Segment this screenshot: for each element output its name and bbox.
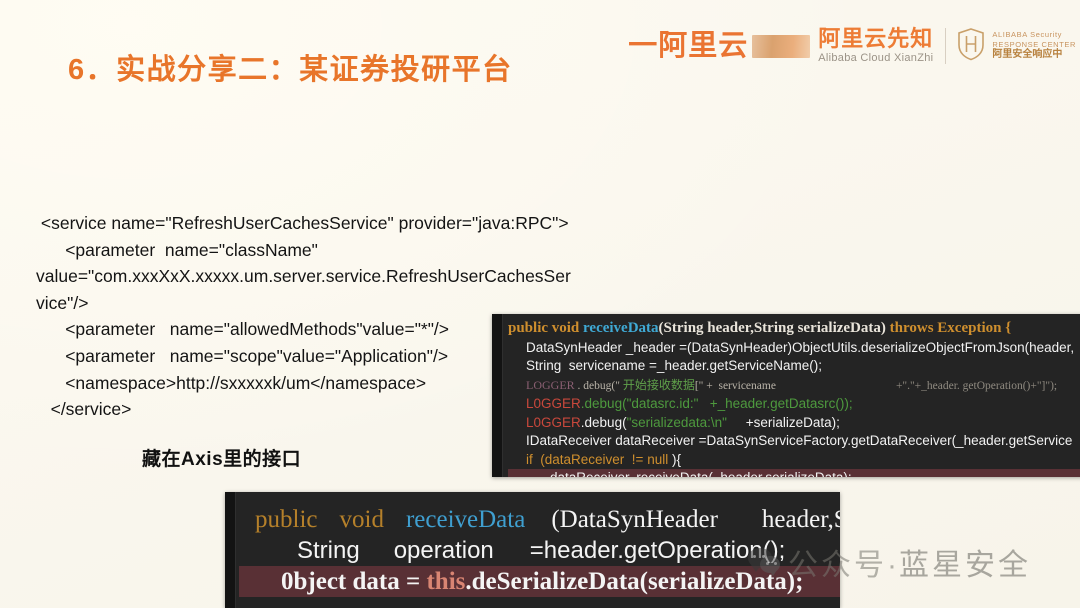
code-text: .deSerializeData(serializeData); — [465, 568, 803, 595]
brand-divider — [945, 28, 946, 64]
code-line: L0GGER.debug("datasrc.id:" +_header.getD… — [508, 395, 1080, 414]
code-text: +"."+_header. getOperation()+"]"); — [776, 380, 1057, 392]
code-text: +serializeData); — [727, 415, 840, 430]
code-line: public void receiveData(String header,St… — [508, 318, 1080, 338]
code-keyword-this: this — [426, 568, 465, 595]
asrc-line2: RESPONSE CENTER — [992, 40, 1076, 49]
code-brace: { — [1005, 320, 1011, 336]
code-if-keyword: if (dataReceiver != — [508, 452, 647, 467]
asrc-logo: ALIBABA Security RESPONSE CENTER 阿里安全响应中 — [956, 27, 1076, 66]
code-text: +_header.getDatasrc()); — [698, 396, 852, 411]
xianzhi-label-cn: 阿里云先知 — [818, 28, 933, 50]
code-string: "serializedata:\n" — [627, 415, 727, 430]
code-text: 0bject data = — [239, 568, 426, 595]
code-screenshot-bottom: publicvoidreceiveData(DataSynHeaderheade… — [225, 492, 840, 608]
watermark-name: 蓝星安全 — [899, 549, 1031, 582]
code-text: dataReceiver. receiveData(_header,serial… — [508, 470, 852, 477]
code-keyword: public void — [508, 320, 583, 336]
code-text: IDataReceiver dataReceiver =DataSynServi… — [508, 433, 1072, 448]
code-text: String — [239, 537, 360, 564]
code-param-names: header,String — [718, 506, 840, 533]
code-line: LOGGER . debug(" 开始接收数据[" + servicename+… — [508, 375, 1080, 395]
xianzhi-logo: 阿里云先知 Alibaba Cloud XianZhi — [818, 28, 933, 64]
code-screenshot-top: public void receiveData(String header,St… — [492, 314, 1080, 477]
code-text: .debug( — [581, 396, 627, 411]
code-line: DataSynHeader _header =(DataSynHeader)Ob… — [508, 338, 1080, 357]
code-string-cn: 开始接收数据 — [623, 378, 695, 392]
code-method-name: receiveData — [384, 506, 525, 533]
aliyun-wordmark: 一阿里云 — [628, 32, 748, 61]
code-text: =header.getOperation(); — [494, 537, 786, 564]
code-lines: public void receiveData(String header,St… — [492, 314, 1080, 477]
code-line: String servicename =_header.getServiceNa… — [508, 357, 1080, 376]
code-logger: L0GGER — [508, 396, 581, 411]
code-line-highlighted: 0bject data = this.deSerializeData(seria… — [239, 566, 840, 597]
code-text: operation — [360, 537, 494, 564]
code-line: L0GGER.debug("serializedata:\n" +seriali… — [508, 413, 1080, 432]
code-text: .debug( — [581, 415, 627, 430]
code-keyword-void: void — [318, 506, 384, 533]
code-signature: (String header,String serializeData) — [659, 320, 890, 336]
watermark-separator: · — [887, 549, 899, 582]
code-throws: throws Exception — [890, 320, 1006, 336]
code-line: publicvoidreceiveData(DataSynHeaderheade… — [239, 504, 840, 535]
code-logger: LOGGER — [508, 378, 575, 392]
xianzhi-label-en: Alibaba Cloud XianZhi — [818, 53, 933, 64]
code-line: if (dataReceiver != null ){ — [508, 450, 1080, 469]
code-param-type: (DataSynHeader — [525, 506, 718, 533]
code-lines: publicvoidreceiveData(DataSynHeaderheade… — [225, 492, 840, 597]
code-method-name: receiveData — [583, 320, 659, 336]
brand-swatch-block — [752, 35, 810, 58]
code-line: Stringoperation=header.getOperation(); — [239, 535, 840, 566]
code-line: IDataReceiver dataReceiver =DataSynServi… — [508, 432, 1080, 451]
brand-header: 一阿里云 阿里云先知 Alibaba Cloud XianZhi ALIBABA… — [628, 22, 1076, 70]
code-text: String servicename =_header.getServiceNa… — [508, 358, 822, 373]
code-string: "datasrc.id:" — [627, 396, 699, 411]
code-null-keyword: null — [647, 452, 668, 467]
asrc-line1: ALIBABA Security — [992, 30, 1076, 39]
code-logger: L0GGER — [508, 415, 581, 430]
asrc-text: ALIBABA Security RESPONSE CENTER 阿里安全响应中 — [992, 30, 1076, 61]
axis-annotation-label: 藏在Axis里的接口 — [142, 444, 301, 471]
code-line-highlighted: dataReceiver. receiveData(_header,serial… — [508, 469, 1080, 478]
code-text: [" + servicename — [695, 380, 776, 392]
code-text: DataSynHeader _header =(DataSynHeader)Ob… — [508, 340, 1074, 355]
asrc-line3: 阿里安全响应中 — [992, 49, 1076, 62]
code-text: ){ — [668, 452, 681, 467]
code-text: . debug(" — [575, 380, 623, 392]
slide-canvas: 一阿里云 阿里云先知 Alibaba Cloud XianZhi ALIBABA… — [0, 0, 1080, 608]
shield-icon — [956, 27, 986, 66]
code-keyword-public: public — [239, 506, 318, 533]
page-title: 6．实战分享二：某证券投研平台 — [68, 46, 513, 88]
